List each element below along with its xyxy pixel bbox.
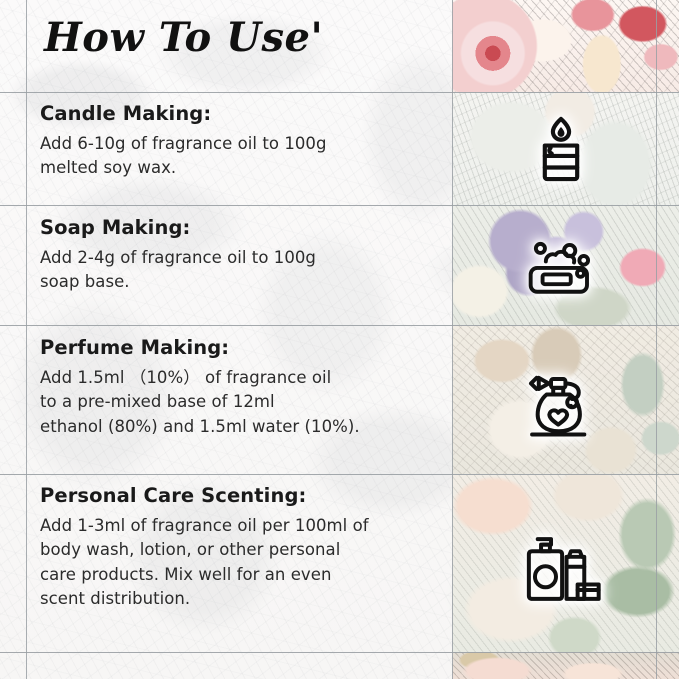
section-rule-3 bbox=[0, 325, 679, 326]
section-rule-2 bbox=[0, 205, 679, 206]
photo-band-bottom-strip bbox=[452, 652, 679, 679]
personal-care-products-icon bbox=[506, 526, 616, 612]
section-body: Add 1.5ml （10%） of fragrance oil to a pr… bbox=[40, 366, 440, 439]
section-personal-care-scenting: Personal Care Scenting: Add 1-3ml of fra… bbox=[40, 484, 450, 611]
section-soap-making: Soap Making: Add 2-4g of fragrance oil t… bbox=[40, 216, 440, 295]
how-to-use-infographic: How To Use' Candle Making: Add 6-10g of … bbox=[0, 0, 679, 679]
soap-bar-bubbles-icon bbox=[506, 228, 616, 310]
section-heading: Soap Making: bbox=[40, 216, 440, 239]
section-heading: Perfume Making: bbox=[40, 336, 440, 359]
section-heading: Candle Making: bbox=[40, 102, 440, 125]
right-margin-rule bbox=[656, 0, 657, 679]
section-rule-5 bbox=[0, 652, 679, 653]
section-rule-1 bbox=[0, 92, 679, 93]
photo-band-roses-tag bbox=[452, 0, 679, 92]
candle-icon bbox=[506, 108, 616, 190]
section-perfume-making: Perfume Making: Add 1.5ml （10%） of fragr… bbox=[40, 336, 440, 439]
section-candle-making: Candle Making: Add 6-10g of fragrance oi… bbox=[40, 102, 440, 181]
section-body: Add 2-4g of fragrance oil to 100g soap b… bbox=[40, 246, 440, 295]
section-body: Add 6-10g of fragrance oil to 100g melte… bbox=[40, 132, 440, 181]
section-rule-4 bbox=[0, 474, 679, 475]
perfume-atomizer-icon bbox=[506, 368, 616, 450]
left-margin-rule bbox=[26, 0, 27, 679]
section-heading: Personal Care Scenting: bbox=[40, 484, 450, 507]
page-title: How To Use' bbox=[44, 14, 323, 61]
column-divider-rule bbox=[452, 0, 453, 679]
section-body: Add 1-3ml of fragrance oil per 100ml of … bbox=[40, 514, 450, 611]
